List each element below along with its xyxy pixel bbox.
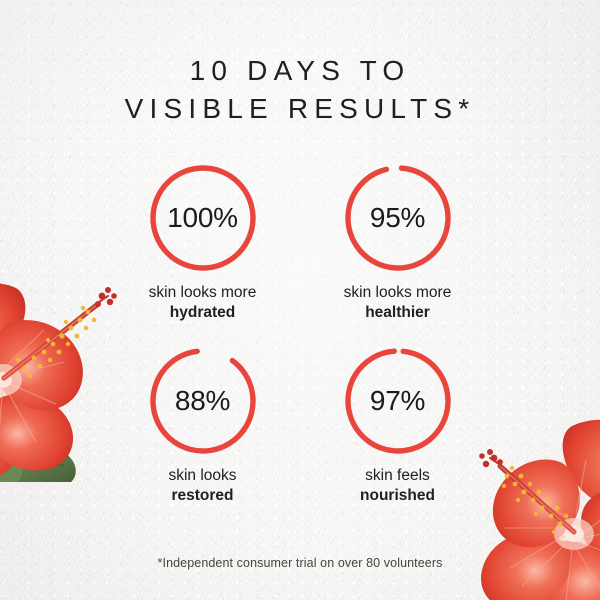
stat-caption: skin looks more hydrated [149, 283, 257, 323]
stat-caption-line1: skin looks more [149, 283, 257, 303]
stat-caption-line1: skin looks [168, 466, 236, 486]
promo-graphic: 10 DAYS TO VISIBLE RESULTS* 100% skin lo… [0, 0, 600, 600]
hibiscus-leaf-group [0, 443, 76, 482]
stat-value: 97% [342, 345, 454, 457]
stat-caption-line2: hydrated [149, 303, 257, 323]
stat-caption: skin looks more healthier [344, 283, 452, 323]
stat-caption: skin feels nourished [360, 466, 435, 506]
page-title: 10 DAYS TO VISIBLE RESULTS* [0, 52, 600, 128]
stat-caption-line1: skin looks more [344, 283, 452, 303]
progress-ring-restored: 88% [147, 345, 259, 457]
progress-ring-nourished: 97% [342, 345, 454, 457]
stats-grid: 100% skin looks more hydrated 95% skin l… [110, 162, 490, 506]
stat-caption-line1: skin feels [360, 466, 435, 486]
footnote-text: *Independent consumer trial on over 80 v… [0, 556, 600, 570]
stat-card-restored: 88% skin looks restored [110, 345, 295, 506]
hibiscus-petal-group [481, 420, 600, 600]
progress-ring-healthier: 95% [342, 162, 454, 274]
stat-caption-line2: restored [168, 486, 236, 506]
hibiscus-stamen-icon [479, 449, 574, 534]
hibiscus-petal-group [0, 283, 83, 482]
stat-value: 100% [147, 162, 259, 274]
stat-caption-line2: healthier [344, 303, 452, 323]
stat-value: 88% [147, 345, 259, 457]
stat-card-healthier: 95% skin looks more healthier [305, 162, 490, 323]
hibiscus-flower-right-icon [476, 418, 600, 600]
stat-card-nourished: 97% skin feels nourished [305, 345, 490, 506]
stat-value: 95% [342, 162, 454, 274]
stat-caption: skin looks restored [168, 466, 236, 506]
hibiscus-stamen-icon [4, 287, 117, 378]
stat-card-hydrated: 100% skin looks more hydrated [110, 162, 295, 323]
stat-caption-line2: nourished [360, 486, 435, 506]
progress-ring-hydrated: 100% [147, 162, 259, 274]
